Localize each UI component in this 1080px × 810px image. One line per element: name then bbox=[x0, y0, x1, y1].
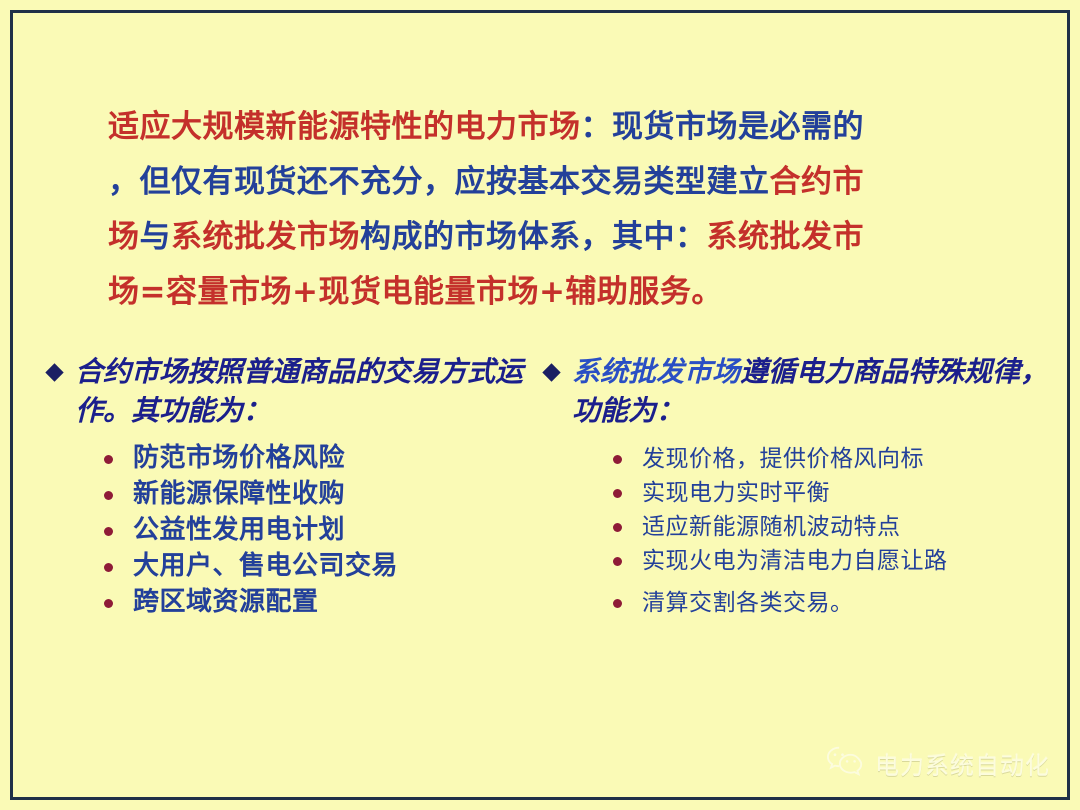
left-item-label: 新能源保障性收购 bbox=[133, 476, 345, 512]
title-line-3-red-a: 场 bbox=[108, 219, 140, 255]
right-sub-list: 发现价格，提供价格风向标 实现电力实时平衡 适应新能源随机波动特点 实现火电为清… bbox=[613, 442, 1055, 620]
watermark-label: 电力系统自动化 bbox=[875, 746, 1050, 781]
right-column: 系统批发市场遵循电力商品特殊规律，功能为： 发现价格，提供价格风向标 实现电力实… bbox=[545, 352, 1055, 620]
right-lead-row: 系统批发市场遵循电力商品特殊规律，功能为： bbox=[545, 352, 1055, 430]
dot-bullet-icon bbox=[104, 563, 113, 572]
right-item-label: 实现电力实时平衡 bbox=[642, 476, 830, 510]
list-item: 跨区域资源配置 bbox=[104, 584, 538, 620]
title-line-1: 适应大规模新能源特性的电力市场：现货市场是必需的 bbox=[108, 100, 988, 155]
list-item: 防范市场价格风险 bbox=[104, 440, 538, 476]
left-item-label: 跨区域资源配置 bbox=[133, 584, 319, 620]
watermark: 电力系统自动化 bbox=[825, 744, 1050, 782]
title-line-3-blue-a: 与 bbox=[140, 219, 172, 255]
dot-bullet-icon bbox=[104, 527, 113, 536]
dot-bullet-icon bbox=[613, 455, 622, 464]
list-item: 适应新能源随机波动特点 bbox=[613, 510, 1055, 544]
left-item-label: 防范市场价格风险 bbox=[133, 440, 345, 476]
list-item: 清算交割各类交易。 bbox=[613, 586, 1055, 620]
list-item: 实现火电为清洁电力自愿让路 bbox=[613, 544, 1055, 578]
slide-title: 适应大规模新能源特性的电力市场：现货市场是必需的 ，但仅有现货还不充分，应按基本… bbox=[108, 100, 988, 320]
title-line-3-red-c: 系统批发市 bbox=[707, 219, 865, 255]
list-item: 实现电力实时平衡 bbox=[613, 476, 1055, 510]
title-line-1-blue: ：现货市场是必需的 bbox=[581, 109, 865, 145]
title-line-2-blue: ，但仅有现货还不充分，应按基本交易类型建立 bbox=[108, 164, 770, 200]
title-line-1-red: 适应大规模新能源特性的电力市场 bbox=[108, 109, 581, 145]
diamond-bullet-icon bbox=[542, 363, 560, 381]
dot-bullet-icon bbox=[613, 557, 622, 566]
dot-bullet-icon bbox=[613, 523, 622, 532]
title-line-3-blue-b: 构成的市场体系，其中： bbox=[360, 219, 707, 255]
dot-bullet-icon bbox=[104, 491, 113, 500]
left-lead-row: 合约市场按照普通商品的交易方式运作。其功能为： bbox=[48, 352, 538, 430]
right-item-label: 发现价格，提供价格风向标 bbox=[642, 442, 924, 476]
title-line-3: 场与系统批发市场构成的市场体系，其中：系统批发市 bbox=[108, 210, 988, 265]
right-item-label: 实现火电为清洁电力自愿让路 bbox=[642, 544, 948, 578]
dot-bullet-icon bbox=[104, 455, 113, 464]
title-line-3-red-b: 系统批发市场 bbox=[171, 219, 360, 255]
dot-bullet-icon bbox=[104, 599, 113, 608]
left-lead-text: 合约市场按照普通商品的交易方式运作。其功能为： bbox=[75, 352, 538, 430]
dot-bullet-icon bbox=[613, 489, 622, 498]
list-item: 大用户、售电公司交易 bbox=[104, 548, 538, 584]
right-lead-highlight: 系统批发市场 bbox=[572, 355, 740, 388]
slide-canvas: 适应大规模新能源特性的电力市场：现货市场是必需的 ，但仅有现货还不充分，应按基本… bbox=[0, 0, 1080, 810]
title-line-2: ，但仅有现货还不充分，应按基本交易类型建立合约市 bbox=[108, 155, 988, 210]
title-line-4-red: 场=容量市场+现货电能量市场+辅助服务。 bbox=[108, 274, 723, 310]
list-item: 发现价格，提供价格风向标 bbox=[613, 442, 1055, 476]
left-sub-list: 防范市场价格风险 新能源保障性收购 公益性发用电计划 大用户、售电公司交易 跨区… bbox=[104, 440, 538, 620]
diamond-bullet-icon bbox=[45, 363, 63, 381]
list-item: 新能源保障性收购 bbox=[104, 476, 538, 512]
list-item: 公益性发用电计划 bbox=[104, 512, 538, 548]
dot-bullet-icon bbox=[613, 599, 622, 608]
right-lead-text: 系统批发市场遵循电力商品特殊规律，功能为： bbox=[572, 352, 1055, 430]
left-item-label: 公益性发用电计划 bbox=[133, 512, 345, 548]
left-item-label: 大用户、售电公司交易 bbox=[133, 548, 398, 584]
right-item-label: 适应新能源随机波动特点 bbox=[642, 510, 901, 544]
left-column: 合约市场按照普通商品的交易方式运作。其功能为： 防范市场价格风险 新能源保障性收… bbox=[48, 352, 538, 620]
title-line-2-red: 合约市 bbox=[770, 164, 865, 200]
wechat-icon bbox=[825, 744, 865, 782]
title-line-4: 场=容量市场+现货电能量市场+辅助服务。 bbox=[108, 265, 988, 320]
right-item-label: 清算交割各类交易。 bbox=[642, 586, 854, 620]
